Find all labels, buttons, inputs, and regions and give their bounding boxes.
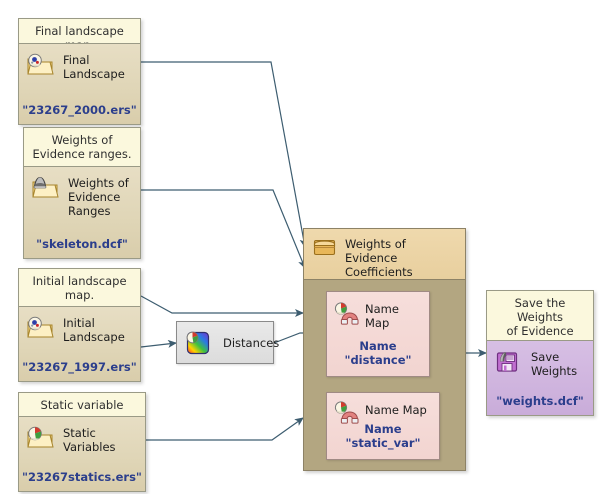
node-title-save-weights: Save Weights	[531, 349, 577, 378]
note-text-line-2: Evidence ranges.	[32, 147, 131, 161]
value-name-map-distance: Name "distance"	[327, 339, 429, 367]
filename-static-variables: "23267statics.ers"	[19, 470, 145, 484]
node-weights-of-evidence-coefficients[interactable]: Weights of Evidence Coefficients Name	[303, 228, 466, 471]
weights-folder-icon	[31, 175, 61, 201]
title-line-1: Weights of	[68, 176, 129, 190]
note-text-line-2: of Evidence	[506, 324, 573, 338]
node-title-distances: Distances	[223, 336, 279, 350]
title-line-3: Ranges	[68, 204, 110, 218]
map-folder-icon	[26, 315, 56, 341]
title-line-1: Save	[531, 350, 559, 364]
note-text-line-1: Save the Weights	[515, 296, 566, 324]
wire-initial-landscape-to-name-map-distance	[141, 296, 303, 313]
node-save-weights[interactable]: Save the Weights of Evidence coefficient…	[486, 290, 594, 416]
title-line-2: Weights	[531, 364, 577, 378]
title-line-1: Initial	[63, 316, 95, 330]
title-line-1: Name	[365, 302, 399, 316]
node-name-map-distance[interactable]: Name Map Name "distance"	[326, 291, 430, 377]
title-line-2: Map	[365, 316, 389, 330]
title-line-2: Landscape	[63, 67, 125, 81]
wire-final-landscape-to-coefficients	[141, 62, 305, 247]
wire-initial-landscape-to-distances	[141, 343, 176, 347]
functor-body-weights-of-evidence-ranges[interactable]: Weights of Evidence Ranges "skeleton.dcf…	[23, 166, 141, 259]
node-title-final-landscape: Final Landscape	[63, 52, 125, 81]
note-static-variables: Static variable map.	[18, 392, 146, 416]
filename-initial-landscape: "23267_1997.ers"	[19, 360, 140, 374]
node-title-name-map-static-var: Name Map	[365, 400, 427, 417]
note-text-line-1: Weights of	[52, 133, 113, 147]
title-line-1: Final	[63, 53, 90, 67]
title-line-2: Landscape	[63, 330, 125, 344]
value-name-map-static-var: Name "static_var"	[327, 422, 439, 450]
functor-body-save-weights[interactable]: Save Weights "weights.dcf"	[486, 340, 594, 416]
note-initial-landscape: Initial landscape map.	[18, 268, 141, 306]
node-initial-landscape[interactable]: Initial landscape map. Initial Landscape	[18, 268, 141, 382]
functor-body-initial-landscape[interactable]: Initial Landscape "23267_1997.ers"	[18, 306, 141, 382]
note-text-line-1: Initial landscape	[32, 274, 126, 288]
node-title-name-map-distance: Name Map	[365, 301, 399, 330]
title-line-1: Weights of	[345, 237, 406, 251]
note-final-landscape: Final landscape map.	[18, 18, 141, 43]
static-map-folder-icon	[26, 425, 56, 451]
functor-body-static-variables[interactable]: Static Variables "23267statics.ers"	[18, 416, 146, 492]
container-title-weights-of-evidence-coefficients: Weights of Evidence Coefficients	[345, 236, 413, 279]
node-title-static-variables: Static Variables	[63, 425, 116, 454]
floppy-save-icon	[494, 349, 524, 375]
distance-map-icon	[184, 329, 212, 357]
node-name-map-static-var[interactable]: Name Map Name "static_var"	[326, 392, 440, 460]
map-folder-icon	[26, 52, 56, 78]
note-text-line-2: map.	[65, 288, 94, 302]
wire-woe-ranges-to-coefficients	[141, 190, 305, 268]
title-line-2: Evidence	[68, 190, 120, 204]
node-static-variables[interactable]: Static variable map. Static Variables "2…	[18, 392, 146, 492]
title-line-3: Coefficients	[345, 265, 413, 279]
functor-body-final-landscape[interactable]: Final Landscape "23267_2000.ers"	[18, 43, 141, 125]
title-line-1: Static	[63, 426, 96, 440]
container-header-weights-of-evidence-coefficients[interactable]: Weights of Evidence Coefficients	[304, 229, 465, 280]
wire-static-variables-to-name-map-static	[146, 418, 303, 440]
node-weights-of-evidence-ranges[interactable]: Weights of Evidence ranges. Weights of E…	[23, 127, 141, 259]
title-line-2: Evidence	[345, 251, 397, 265]
node-distances[interactable]: Distances	[176, 321, 274, 364]
node-final-landscape[interactable]: Final landscape map. Final Landscape	[18, 18, 141, 125]
node-title-initial-landscape: Initial Landscape	[63, 315, 125, 344]
container-box-icon	[312, 236, 338, 260]
note-save-weights: Save the Weights of Evidence coefficient…	[486, 290, 594, 340]
magnet-map-icon	[333, 301, 361, 327]
note-weights-of-evidence-ranges: Weights of Evidence ranges.	[23, 127, 141, 166]
filename-save-weights: "weights.dcf"	[487, 394, 593, 408]
filename-weights-of-evidence-ranges: "skeleton.dcf"	[24, 237, 140, 251]
title-line-2: Variables	[63, 440, 116, 454]
filename-final-landscape: "23267_2000.ers"	[19, 103, 140, 117]
node-title-weights-of-evidence-ranges: Weights of Evidence Ranges	[68, 175, 129, 218]
